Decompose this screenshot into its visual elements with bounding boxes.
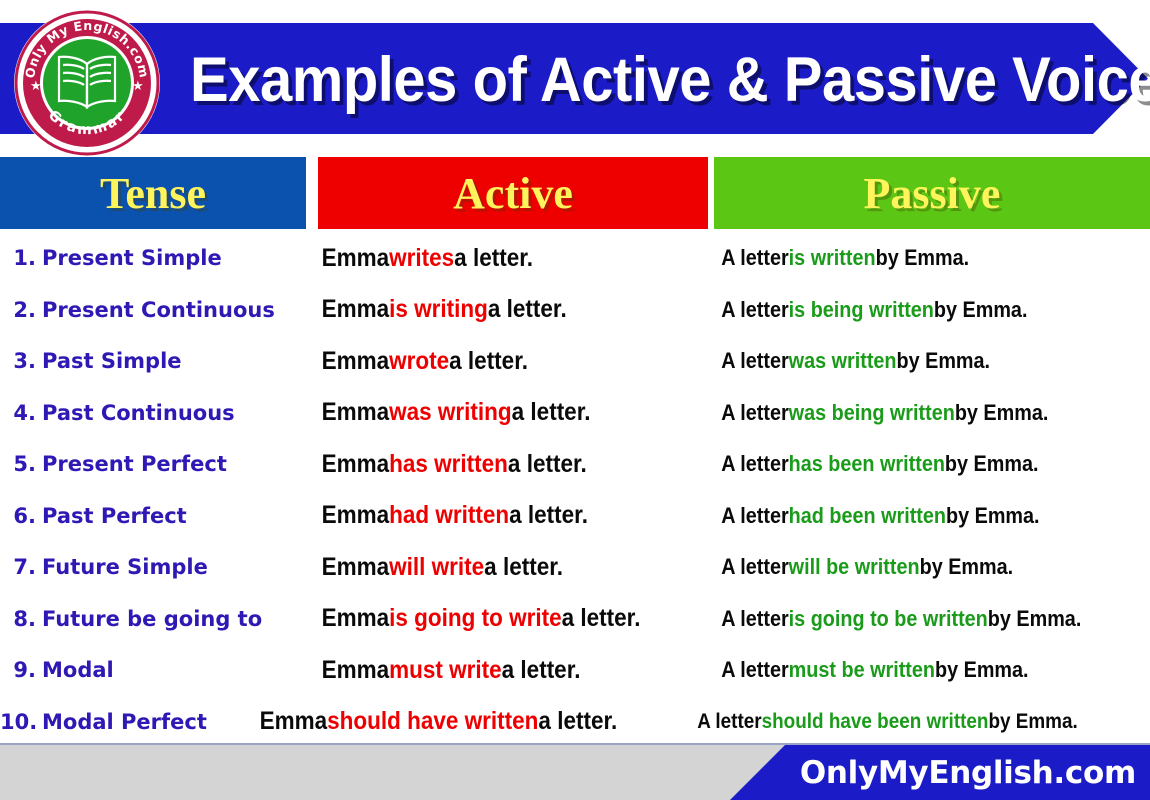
cell-passive: A letter is being written by Emma. [714,284,1106,336]
page-header: Examples of Active & Passive Voice [0,0,1150,155]
passive-pre-text: A letter [721,657,788,683]
cell-passive: A letter will be written by Emma. [714,541,1106,593]
active-verb-phrase: has written [389,450,508,479]
passive-post-text: by Emma. [945,451,1039,477]
star-right-icon: ★ [132,79,144,94]
passive-post-text: by Emma. [897,348,991,374]
active-post-text: a letter. [509,501,588,530]
active-pre-text: Emma [322,604,390,633]
passive-post-text: by Emma. [934,297,1028,323]
column-header-active: Active [318,157,708,229]
cell-tense: 2.Present Continuous [0,284,312,336]
active-verb-phrase: had written [389,501,509,530]
row-number: 6. [0,504,36,528]
active-pre-text: Emma [322,656,390,685]
cell-passive: A letter must be written by Emma. [714,644,1106,696]
passive-verb-phrase: should have been written [762,710,989,734]
cell-tense: 9.Modal [0,644,312,696]
table-row: 9.ModalEmma must write a letter.A letter… [0,644,1150,696]
passive-post-text: by Emma. [935,657,1029,683]
passive-verb-phrase: is being written [789,297,934,323]
cell-tense: 6.Past Perfect [0,490,312,542]
table-row: 2.Present ContinuousEmma is writing a le… [0,284,1150,336]
active-pre-text: Emma [260,707,328,736]
cell-passive: A letter is written by Emma. [714,232,1106,284]
active-pre-text: Emma [322,295,390,324]
table-row: 6.Past PerfectEmma had written a letter.… [0,490,1150,542]
tense-label: Past Perfect [42,504,187,528]
active-post-text: a letter. [508,450,587,479]
active-post-text: a letter. [488,295,567,324]
active-verb-phrase: is writing [389,295,488,324]
active-verb-phrase: should have written [327,707,538,736]
active-verb-phrase: is going to write [389,604,562,633]
tense-label: Future Simple [42,555,208,579]
logo-badge-icon: ★ ★ Only My English.com Grammar [12,8,162,158]
row-number: 4. [0,401,36,425]
table-row: 10.Modal PerfectEmma should have written… [0,696,1150,748]
cell-active: Emma wrote a letter. [318,335,669,387]
footer-site-name: OnlyMyEnglish.com [800,755,1136,791]
passive-pre-text: A letter [721,606,788,632]
table-row: 7.Future SimpleEmma will write a letter.… [0,541,1150,593]
tense-label: Past Simple [42,349,182,373]
cell-tense: 5.Present Perfect [0,438,312,490]
cell-active: Emma was writing a letter. [318,387,669,439]
active-verb-phrase: must write [389,656,502,685]
row-number: 7. [0,555,36,579]
cell-active: Emma is writing a letter. [318,284,669,336]
column-header-passive: Passive [714,157,1150,229]
tense-label: Present Perfect [42,452,227,476]
tense-label: Modal Perfect [42,710,207,734]
passive-verb-phrase: has been written [789,451,945,477]
cell-active: Emma must write a letter. [318,644,669,696]
page-footer: OnlyMyEnglish.com [0,745,1150,800]
passive-post-text: by Emma. [876,245,970,271]
table-row: 5.Present PerfectEmma has written a lett… [0,438,1150,490]
table-row: 3.Past SimpleEmma wrote a letter.A lette… [0,335,1150,387]
cell-passive: A letter has been written by Emma. [714,438,1106,490]
passive-pre-text: A letter [721,348,788,374]
table-row: 4.Past ContinuousEmma was writing a lett… [0,387,1150,439]
table-row: 8.Future be going toEmma is going to wri… [0,593,1150,645]
cell-active: Emma will write a letter. [318,541,669,593]
row-number: 3. [0,349,36,373]
cell-active: Emma has written a letter. [318,438,669,490]
passive-verb-phrase: had been written [789,503,946,529]
cell-passive: A letter was being written by Emma. [714,387,1106,439]
tense-label: Future be going to [42,607,262,631]
passive-post-text: by Emma. [988,710,1077,734]
page-title: Examples of Active & Passive Voice [190,30,1055,130]
active-pre-text: Emma [322,398,390,427]
passive-verb-phrase: is going to be written [789,606,988,632]
tense-label: Present Continuous [42,298,275,322]
passive-pre-text: A letter [721,297,788,323]
active-post-text: a letter. [484,553,563,582]
active-pre-text: Emma [322,501,390,530]
cell-passive: A letter should have been written by Emm… [690,696,1104,748]
cell-active: Emma writes a letter. [318,232,669,284]
cell-tense: 8.Future be going to [0,593,312,645]
passive-pre-text: A letter [721,554,788,580]
footer-ribbon: OnlyMyEnglish.com [730,745,1150,800]
cell-active: Emma should have written a letter. [256,696,670,748]
row-number: 2. [0,298,36,322]
active-post-text: a letter. [502,656,581,685]
passive-verb-phrase: will be written [789,554,920,580]
cell-passive: A letter had been written by Emma. [714,490,1106,542]
cell-tense: 3.Past Simple [0,335,312,387]
active-post-text: a letter. [449,347,528,376]
passive-pre-text: A letter [721,503,788,529]
tense-label: Present Simple [42,246,222,270]
passive-pre-text: A letter [697,710,761,734]
row-number: 9. [0,658,36,682]
active-post-text: a letter. [538,707,617,736]
passive-verb-phrase: is written [789,245,876,271]
row-number: 8. [0,607,36,631]
column-header-tense: Tense [0,157,306,229]
passive-pre-text: A letter [721,451,788,477]
tense-label: Past Continuous [42,401,235,425]
passive-verb-phrase: must be written [789,657,935,683]
open-book-icon [59,57,115,107]
active-post-text: a letter. [512,398,591,427]
cell-tense: 1.Present Simple [0,232,312,284]
active-pre-text: Emma [322,244,390,273]
passive-pre-text: A letter [721,245,788,271]
star-left-icon: ★ [30,79,42,94]
row-number: 5. [0,452,36,476]
active-pre-text: Emma [322,347,390,376]
passive-post-text: by Emma. [946,503,1040,529]
cell-active: Emma is going to write a letter. [318,593,669,645]
cell-tense: 7.Future Simple [0,541,312,593]
active-post-text: a letter. [562,604,641,633]
active-verb-phrase: writes [389,244,454,273]
passive-verb-phrase: was being written [789,400,955,426]
active-verb-phrase: wrote [389,347,449,376]
passive-post-text: by Emma. [955,400,1049,426]
passive-post-text: by Emma. [920,554,1014,580]
row-number: 10. [0,710,36,734]
passive-pre-text: A letter [721,400,788,426]
active-post-text: a letter. [454,244,533,273]
row-number: 1. [0,246,36,270]
table-column-headers: Tense Active Passive [0,157,1150,229]
active-verb-phrase: will write [389,553,484,582]
table-body: 1.Present SimpleEmma writes a letter.A l… [0,232,1150,744]
active-pre-text: Emma [322,553,390,582]
passive-post-text: by Emma. [988,606,1082,632]
cell-active: Emma had written a letter. [318,490,669,542]
site-logo: ★ ★ Only My English.com Grammar [12,8,162,158]
tense-label: Modal [42,658,114,682]
table-row: 1.Present SimpleEmma writes a letter.A l… [0,232,1150,284]
cell-passive: A letter is going to be written by Emma. [714,593,1106,645]
cell-passive: A letter was written by Emma. [714,335,1106,387]
passive-verb-phrase: was written [789,348,897,374]
cell-tense: 4.Past Continuous [0,387,312,439]
active-verb-phrase: was writing [389,398,512,427]
active-pre-text: Emma [322,450,390,479]
